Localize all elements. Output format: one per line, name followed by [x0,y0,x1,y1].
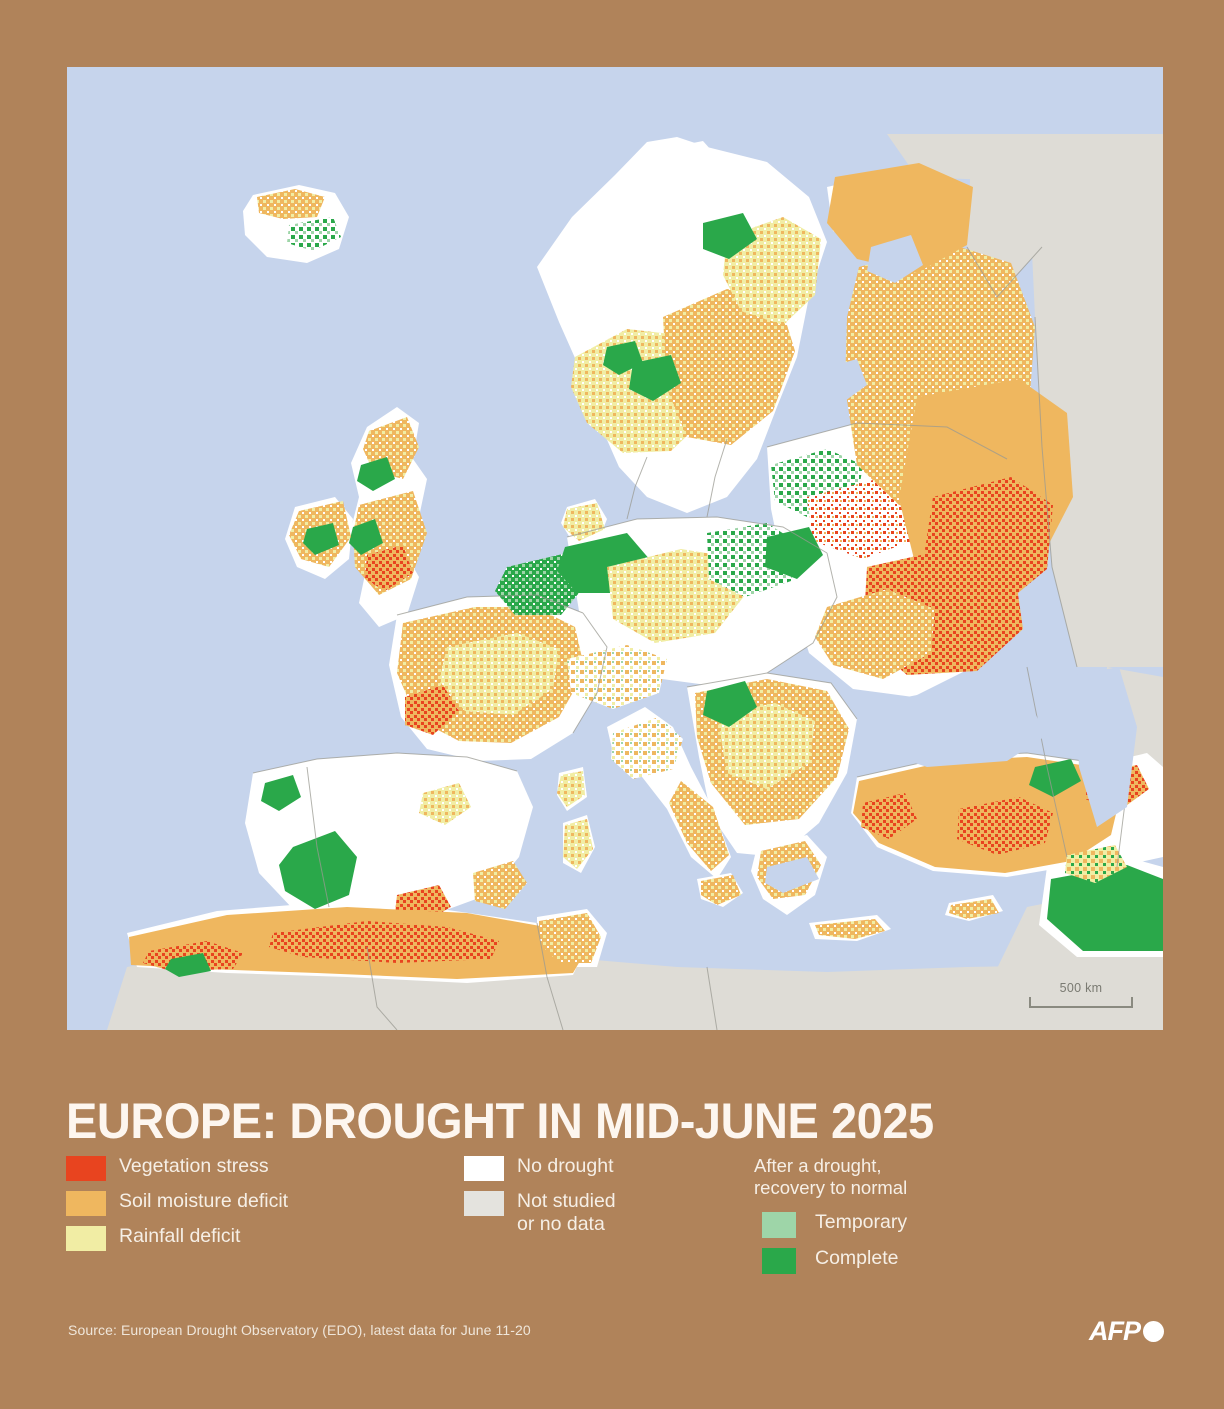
legend-swatch-recovery-temporary [762,1212,796,1238]
legend-swatch-soil-moisture-deficit [66,1191,106,1216]
map-panel[interactable]: 500 km [67,67,1163,1030]
legend-label-soil-moisture-deficit: Soil moisture deficit [119,1190,288,1213]
afp-dot-icon [1143,1321,1164,1342]
afp-wordmark: AFP [1089,1318,1140,1345]
legend-label-not-studied: Not studied or no data [517,1190,616,1236]
page-title: EUROPE: DROUGHT IN MID-JUNE 2025 [66,1093,934,1149]
legend-item-vegetation-stress: Vegetation stress [66,1155,288,1181]
legend-item-rainfall-deficit: Rainfall deficit [66,1225,288,1251]
legend-label-rainfall-deficit: Rainfall deficit [119,1225,240,1248]
legend-column-drought-classes: Vegetation stress Soil moisture deficit … [66,1155,288,1260]
legend-label-vegetation-stress: Vegetation stress [119,1155,269,1178]
legend-swatch-vegetation-stress [66,1156,106,1181]
legend: Vegetation stress Soil moisture deficit … [66,1155,1156,1295]
legend-label-recovery-temporary: Temporary [815,1211,907,1234]
legend-item-no-drought: No drought [464,1155,616,1181]
legend-column-no-drought: No drought Not studied or no data [464,1155,616,1245]
legend-label-no-drought: No drought [517,1155,613,1178]
afp-logo: AFP [1089,1318,1164,1345]
legend-swatch-rainfall-deficit [66,1226,106,1251]
source-note: Source: European Drought Observatory (ED… [68,1322,531,1338]
legend-label-recovery-complete: Complete [815,1247,898,1270]
legend-column-recovery: After a drought, recovery to normal Temp… [754,1155,907,1283]
legend-item-not-studied: Not studied or no data [464,1190,616,1236]
legend-heading-recovery: After a drought, recovery to normal [754,1155,907,1199]
legend-swatch-recovery-complete [762,1248,796,1274]
legend-item-recovery-temporary: Temporary [762,1211,907,1238]
legend-item-soil-moisture-deficit: Soil moisture deficit [66,1190,288,1216]
legend-swatch-no-drought [464,1156,504,1181]
legend-item-recovery-complete: Complete [762,1247,907,1274]
drought-map[interactable] [67,67,1163,1030]
legend-swatch-not-studied [464,1191,504,1216]
